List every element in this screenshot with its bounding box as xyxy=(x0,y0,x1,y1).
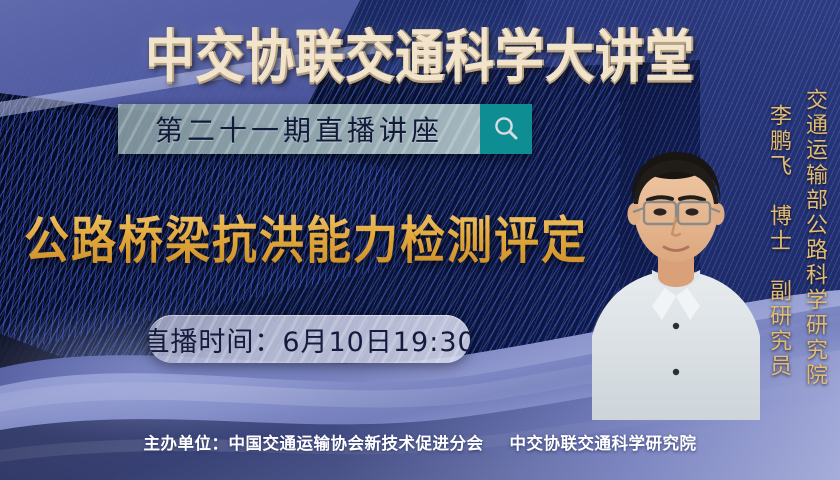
footer-organizer-1: 中国交通运输协会新技术促进分会 xyxy=(229,434,484,453)
speaker-name: 李鹏飞 博士 副研究员 xyxy=(762,104,794,379)
live-time-text: 直播时间：6月10日19:30 xyxy=(148,320,470,359)
episode-search-bar[interactable]: 第二十一期直播讲座 xyxy=(118,104,532,154)
speaker-affiliation: 交通运输部公路科学研究院 xyxy=(798,88,830,388)
page-title: 中交协联交通科学大讲堂 xyxy=(0,10,840,93)
live-lecture-poster: 中交协联交通科学大讲堂 第二十一期直播讲座 公路桥梁抗洪能力检测评定 直播时间：… xyxy=(0,0,840,480)
search-button[interactable] xyxy=(480,104,532,154)
footer-organizers: 主办单位：中国交通运输协会新技术促进分会中交协联交通科学研究院 xyxy=(0,430,840,454)
episode-label-box: 第二十一期直播讲座 xyxy=(118,104,480,154)
footer-prefix: 主办单位： xyxy=(144,434,229,453)
search-icon xyxy=(491,114,521,144)
speaker-photo xyxy=(592,120,760,420)
lecture-title: 公路桥梁抗洪能力检测评定 xyxy=(24,200,588,273)
live-time-badge: 直播时间：6月10日19:30 xyxy=(148,315,470,363)
footer-organizer-2: 中交协联交通科学研究院 xyxy=(510,434,697,453)
episode-label: 第二十一期直播讲座 xyxy=(155,109,443,149)
